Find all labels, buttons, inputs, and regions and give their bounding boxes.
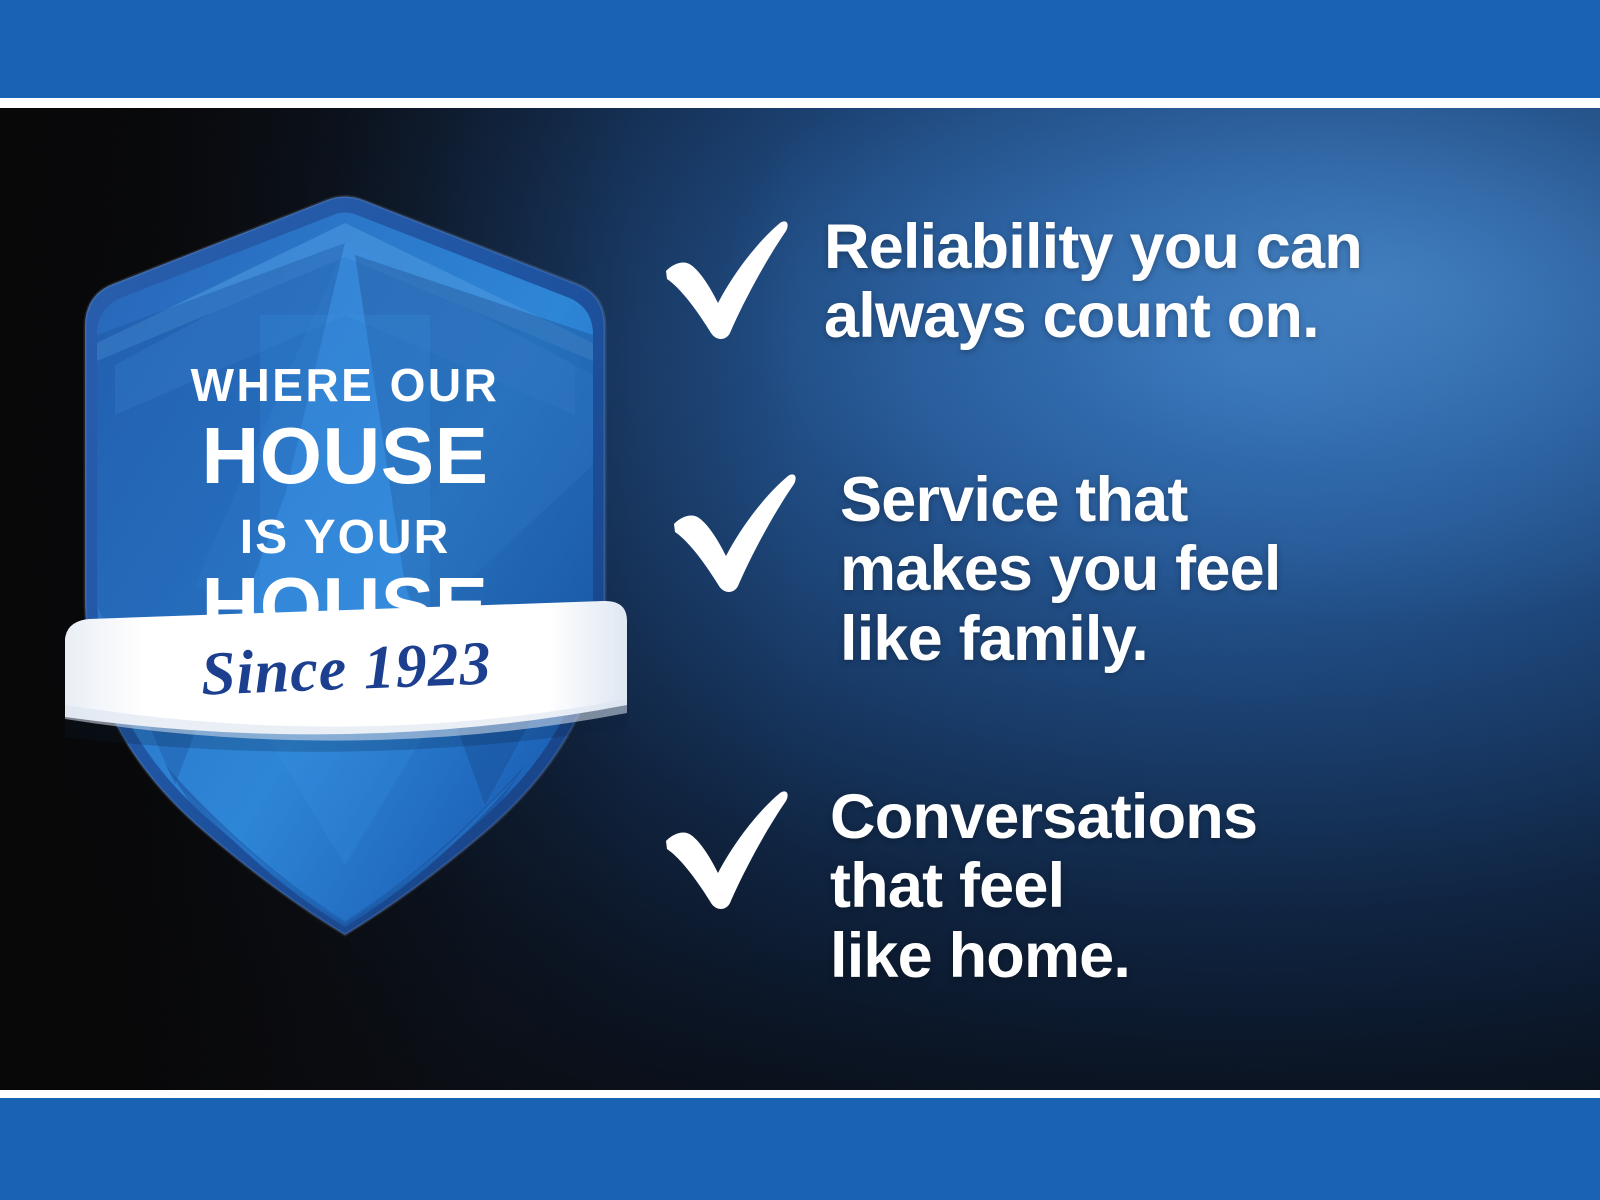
banner-text: Since 1923 xyxy=(200,629,493,708)
since-banner: Since 1923 xyxy=(65,601,629,752)
checkmark-icon xyxy=(668,472,800,592)
benefit-item-1: Reliability you can always count on. xyxy=(660,213,1362,352)
checkmark-icon xyxy=(660,219,792,339)
bottom-divider xyxy=(0,1090,1600,1098)
top-divider xyxy=(0,98,1600,108)
benefit-text-3: Conversations that feel like home. xyxy=(826,783,1257,991)
promo-graphic: WHERE OUR HOUSE IS YOUR HOUSE Since 1923 xyxy=(0,0,1600,1200)
logo-line-1: WHERE OUR xyxy=(191,359,500,411)
benefit-item-2: Service that makes you feel like family. xyxy=(668,466,1281,674)
benefit-text-2: Service that makes you feel like family. xyxy=(836,466,1281,674)
benefit-text-1: Reliability you can always count on. xyxy=(820,213,1362,352)
benefits-list: Reliability you can always count on. Ser… xyxy=(660,108,1540,1090)
logo-line-2: HOUSE xyxy=(202,411,489,500)
bottom-brand-bar xyxy=(0,1098,1600,1200)
checkmark-icon xyxy=(660,789,792,909)
top-brand-bar xyxy=(0,0,1600,98)
logo-line-3: IS YOUR xyxy=(240,511,451,564)
shield-logo: WHERE OUR HOUSE IS YOUR HOUSE Since 1923 xyxy=(55,165,635,955)
benefit-item-3: Conversations that feel like home. xyxy=(660,783,1257,991)
